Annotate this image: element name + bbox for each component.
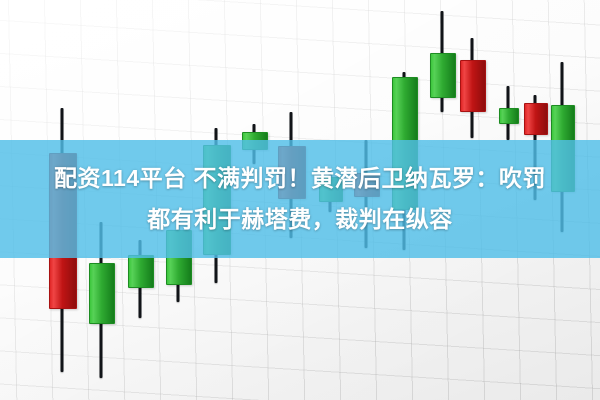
- candle-body-down: [460, 60, 486, 112]
- candle-body-up: [430, 53, 456, 98]
- candlestick: [430, 11, 454, 112]
- headline-line-2: 都有利于赫塔费，裁判在纵容: [0, 199, 600, 240]
- candlestick: [499, 86, 517, 140]
- candle-body-up: [89, 263, 115, 324]
- candle-body-up: [128, 255, 154, 288]
- candle-body-down: [524, 103, 548, 135]
- candlestick: [460, 38, 484, 138]
- screenshot-canvas: 配资114平台 不满判罚！黄潜后卫纳瓦罗：吹罚 都有利于赫塔费，裁判在纵容: [0, 0, 600, 400]
- headline-text: 配资114平台 不满判罚！黄潜后卫纳瓦罗：吹罚 都有利于赫塔费，裁判在纵容: [0, 158, 600, 240]
- headline-line-1: 配资114平台 不满判罚！黄潜后卫纳瓦罗：吹罚: [54, 165, 546, 191]
- candle-body-up: [499, 108, 519, 124]
